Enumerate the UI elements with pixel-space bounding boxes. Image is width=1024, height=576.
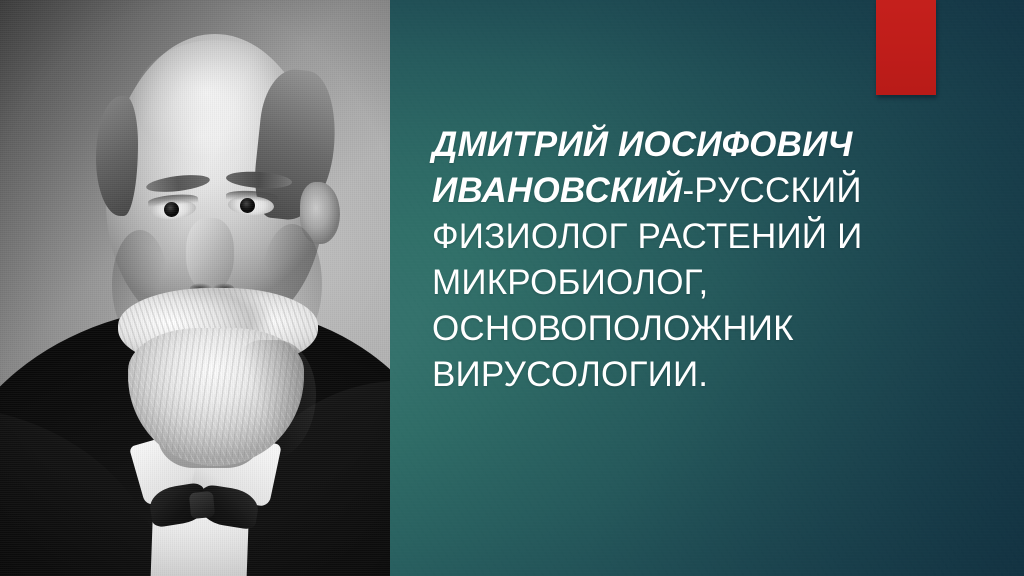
title-line-5-regular: ОСНОВОПОЛОЖНИК [432,309,794,348]
photo-grayscale-filter [0,0,390,576]
presentation-slide: ДМИТРИЙ ИОСИФОВИЧ ИВАНОВСКИЙ-РУССКИЙ ФИЗ… [0,0,1024,576]
title-line-2: ИВАНОВСКИЙ-РУССКИЙ [432,168,952,214]
portrait-photo [0,0,390,576]
title-line-4: МИКРОБИОЛОГ, [432,260,952,306]
slide-title-block: ДМИТРИЙ ИОСИФОВИЧ ИВАНОВСКИЙ-РУССКИЙ ФИЗ… [432,122,952,398]
title-line-2-emphasis: ИВАНОВСКИЙ [432,171,682,210]
title-line-3: ФИЗИОЛОГ РАСТЕНИЙ И [432,214,952,260]
title-line-1: ДМИТРИЙ ИОСИФОВИЧ [432,122,952,168]
title-line-4-regular: МИКРОБИОЛОГ, [432,263,708,302]
title-line-6-regular: ВИРУСОЛОГИИ. [432,355,708,394]
portrait-photo-content [0,0,390,576]
red-accent-bar [876,0,936,95]
title-line-1-emphasis: ДМИТРИЙ ИОСИФОВИЧ [432,125,852,164]
title-line-5: ОСНОВОПОЛОЖНИК [432,306,952,352]
title-line-2-regular: -РУССКИЙ [682,171,861,210]
title-line-3-regular: ФИЗИОЛОГ РАСТЕНИЙ И [432,217,862,256]
title-line-6: ВИРУСОЛОГИИ. [432,352,952,398]
